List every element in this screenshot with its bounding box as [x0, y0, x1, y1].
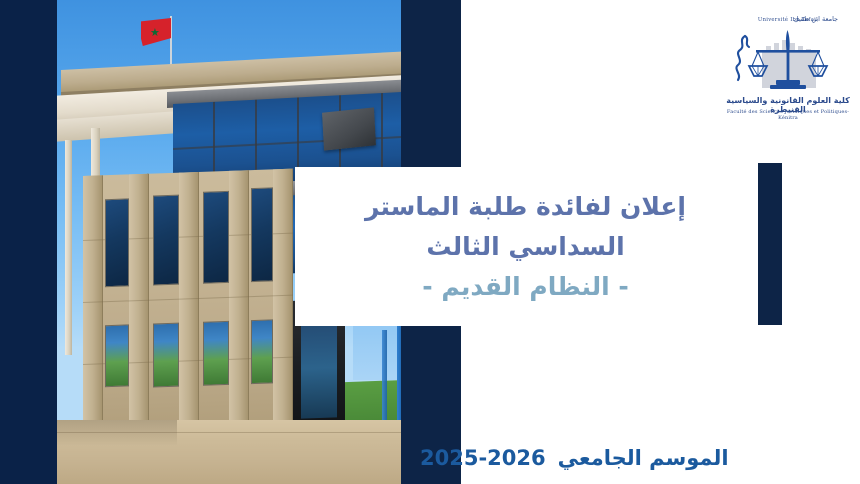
navy-vertical-bar [758, 163, 782, 325]
slide-canvas: ★ [0, 0, 860, 484]
announcement-title: إعلان لفائدة طلبة الماستر السداسي الثالث… [295, 167, 756, 326]
logo-faculty-french: Faculté des Sciences Juridiques et Polit… [718, 109, 858, 121]
faculty-logo: Université Ibn Tofail جامعة ابن طفيل [718, 4, 858, 126]
title-line-1: إعلان لفائدة طلبة الماستر [365, 188, 686, 226]
title-line-3: - النظام القديم - [422, 268, 628, 306]
left-navy-strip [0, 0, 57, 484]
entrance-glass-door [301, 317, 337, 418]
academic-year-label: الموسم الجامعي [558, 446, 729, 470]
academic-year-value: 2025-2026 [420, 446, 546, 470]
lawn-strip [345, 378, 401, 422]
title-line-2: السداسي الثالث [426, 228, 624, 266]
scales-of-justice-icon [732, 22, 844, 100]
open-awning-window [322, 107, 376, 150]
academic-year-line: الموسم الجامعي 2025-2026 [420, 441, 840, 475]
plaza-shadow [57, 420, 177, 446]
facade-column [65, 140, 72, 355]
sky-patch-lower [353, 318, 401, 380]
flag-star-icon: ★ [150, 28, 159, 37]
